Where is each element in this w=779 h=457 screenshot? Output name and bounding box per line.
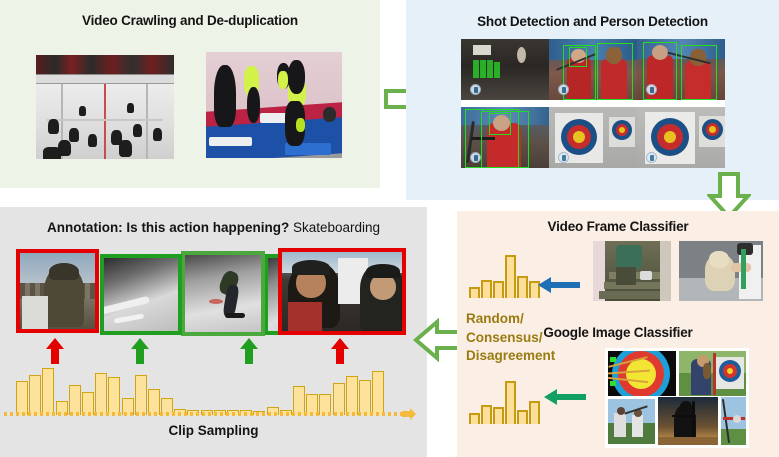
- histogram-bar: [469, 287, 480, 299]
- histogram-bar: [505, 381, 516, 424]
- shot-cell-archers-red-a: [549, 39, 637, 100]
- image-person-on-stairs: [593, 241, 671, 301]
- histogram-bar: [493, 407, 504, 424]
- annotation-question-text: Annotation: Is this action happening?: [47, 220, 289, 235]
- strategy-line-random: Random/: [466, 310, 586, 329]
- annotation-class-label: Skateboarding: [289, 220, 380, 235]
- google-image-classifier-histogram: [469, 376, 541, 424]
- thumbnail-ice-hockey-clip: [36, 55, 174, 159]
- image-archer-silhouette-sunset: [658, 397, 718, 445]
- histogram-bar: [493, 281, 504, 298]
- histogram-bar: [517, 276, 528, 298]
- panel-shot-detection: Shot Detection and Person Detection: [406, 0, 779, 200]
- strategy-line-consensus: Consensus/: [466, 329, 586, 348]
- sampling-strategy-label: Random/ Consensus/ Disagreement: [466, 310, 586, 366]
- timeline-axis: [4, 412, 404, 416]
- histogram-bar: [517, 410, 528, 424]
- histogram-bar: [29, 375, 41, 415]
- histogram-bar: [42, 368, 54, 415]
- histogram-bar: [505, 255, 516, 298]
- thumbnail-step-aerobics-clip: [206, 52, 342, 158]
- image-bow-and-target-closeup: [721, 397, 746, 445]
- histogram-bar: [372, 371, 384, 415]
- histogram-bar: [108, 377, 120, 415]
- video-frame-classifier-histogram: [469, 250, 541, 298]
- shot-cell-target-faces-b: [637, 107, 725, 168]
- annotation-thumb-1-crowd-spectator[interactable]: [16, 249, 99, 333]
- arrow-google-image-to-histogram: [544, 388, 586, 411]
- image-archers-outdoor-field: [608, 399, 655, 444]
- image-dog-being-washed: [679, 241, 763, 301]
- video-frame-classifier-title: Video Frame Classifier: [457, 219, 779, 234]
- annotation-question: Annotation: Is this action happening? Sk…: [0, 220, 427, 235]
- histogram-bar: [346, 376, 358, 415]
- image-arrows-in-target: [608, 351, 676, 396]
- shot-cell-archers-red-b: [637, 39, 725, 100]
- video-frame-classifier-images: [593, 241, 763, 301]
- arrow-video-frame-to-histogram: [538, 276, 580, 299]
- histogram-bar: [529, 401, 540, 424]
- shot-cell-target-faces-a: [549, 107, 637, 168]
- image-archer-and-target: [679, 351, 746, 396]
- annotation-thumb-5-interview-portrait[interactable]: [278, 248, 406, 335]
- panel-title-crawling: Video Crawling and De-duplication: [0, 13, 380, 28]
- histogram-bar: [135, 375, 147, 415]
- annotation-thumb-3-skater-in-air[interactable]: [181, 251, 265, 336]
- clip-sampling-label: Clip Sampling: [0, 423, 427, 438]
- shot-cell-indoor-range-empty: [461, 39, 549, 100]
- histogram-bar: [481, 280, 492, 298]
- histogram-bar: [469, 413, 480, 425]
- flow-arrow-classifier-to-annotation: [411, 318, 461, 367]
- google-image-classifier-images: [605, 348, 749, 448]
- shot-cell-archer-drawing-bow: [461, 107, 549, 168]
- archery-row-1: [461, 39, 725, 100]
- histogram-bar: [359, 380, 371, 415]
- panel-video-crawling: Video Crawling and De-duplication: [0, 0, 380, 188]
- clip-sampling-histogram: [16, 360, 385, 415]
- strategy-line-disagreement: Disagreement: [466, 347, 586, 366]
- histogram-bar: [293, 386, 305, 415]
- histogram-bar: [95, 373, 107, 415]
- histogram-bar: [16, 381, 28, 415]
- archery-row-2: [461, 107, 725, 168]
- strip-divider: [461, 100, 725, 107]
- panel-title-shot-detection: Shot Detection and Person Detection: [406, 14, 779, 29]
- histogram-bar: [69, 385, 81, 415]
- annotation-thumb-2-skatepark-bowl[interactable]: [100, 254, 182, 335]
- histogram-bar: [481, 405, 492, 424]
- histogram-bar: [333, 383, 345, 416]
